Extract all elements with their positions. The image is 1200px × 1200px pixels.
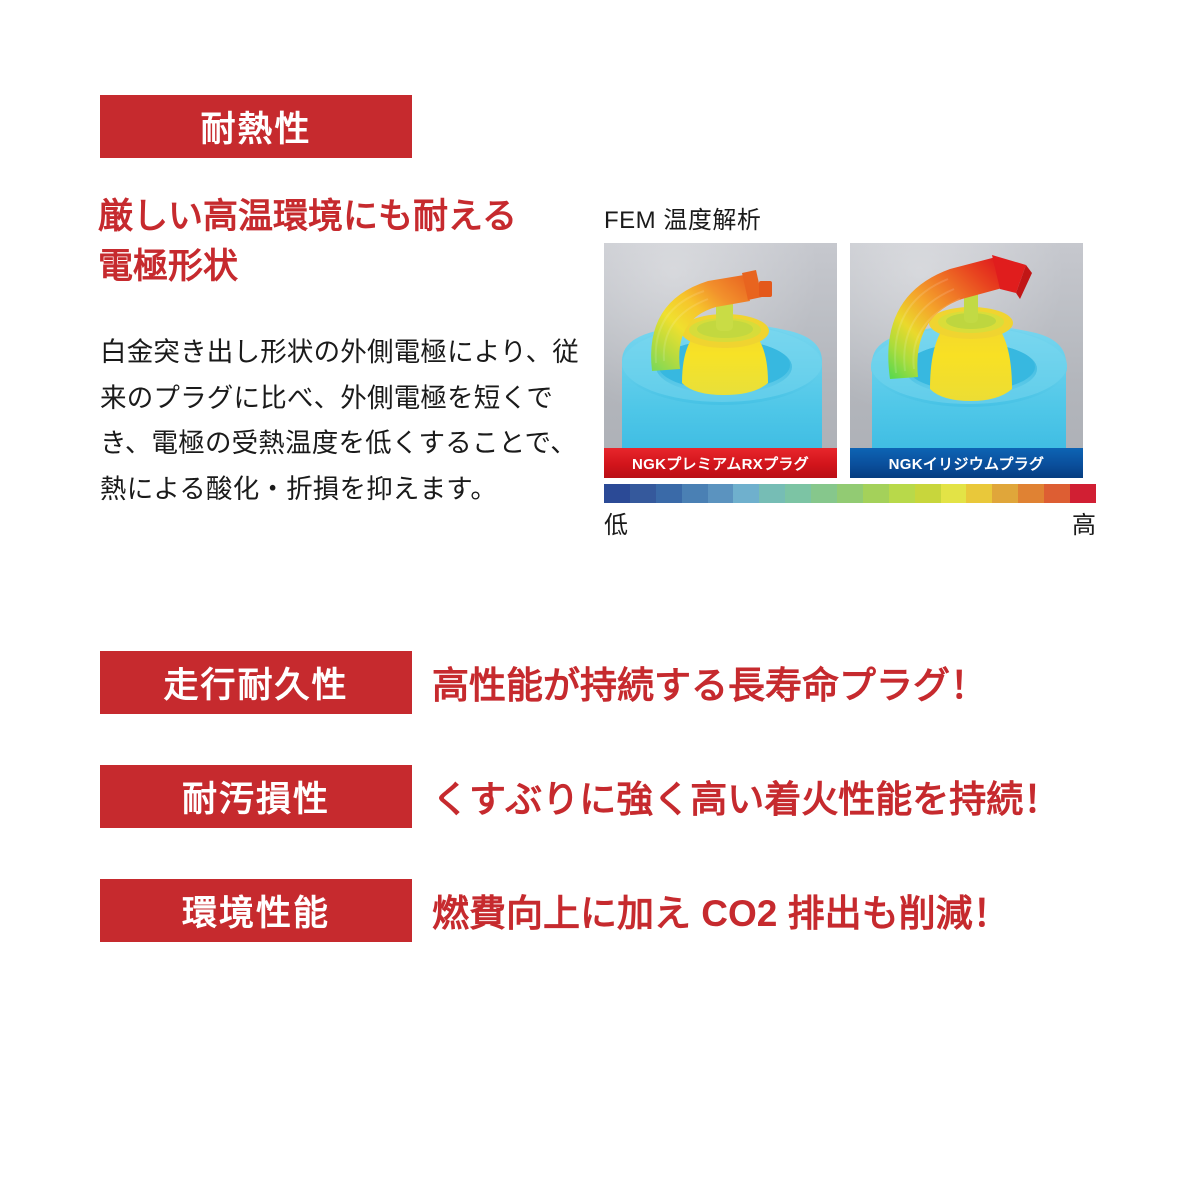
legend-color-band-2 [656,484,682,503]
legend-color-band-11 [889,484,915,503]
legend-color-band-7 [785,484,811,503]
spark-plug-thermal-render-rx [604,243,837,478]
badge-fouling-resistance: 耐汚損性 [100,765,412,828]
fem-panel-group: NGKプレミアムRXプラグ [604,243,1096,478]
fem-caption-iridium: NGKイリジウムプラグ [850,448,1083,478]
heat-body-paragraph: 白金突き出し形状の外側電極により、従来のプラグに比べ、外側電極を短くでき、電極の… [100,330,580,512]
fem-figure-title: FEM 温度解析 [604,200,1096,235]
legend-color-band-13 [941,484,967,503]
legend-color-band-14 [966,484,992,503]
legend-color-band-15 [992,484,1018,503]
legend-color-band-1 [630,484,656,503]
feature-text-environmental: 燃費向上に加え CO2 排出も削減！ [432,878,1010,941]
heat-lead-line-1: 厳しい高温環境にも耐える [98,192,578,242]
legend-label-low: 低 [604,505,628,540]
legend-color-band-10 [863,484,889,503]
legend-color-band-0 [604,484,630,503]
feature-text-fouling-resistance: くすぶりに強く高い着火性能を持続！ [432,764,1060,827]
feature-row-driving-durability: 走行耐久性 高性能が持続する長寿命プラグ！ [100,651,1100,765]
legend-color-band-5 [733,484,759,503]
legend-labels: 低 高 [604,505,1096,540]
heat-lead-line-2: 電極形状 [98,242,578,292]
fem-panel-premium-rx: NGKプレミアムRXプラグ [604,243,837,478]
temperature-scale-legend: 低 高 [604,484,1096,540]
badge-heat-resistance: 耐熱性 [100,95,412,158]
legend-color-band-16 [1018,484,1044,503]
fem-caption-premium-rx: NGKプレミアムRXプラグ [604,448,837,478]
badge-driving-durability: 走行耐久性 [100,651,412,714]
legend-color-band-9 [837,484,863,503]
feature-row-environmental: 環境性能 燃費向上に加え CO2 排出も削減！ [100,879,1100,993]
legend-color-band-4 [708,484,734,503]
legend-color-bar [604,484,1096,503]
legend-color-band-18 [1070,484,1096,503]
heat-lead-headline: 厳しい高温環境にも耐える 電極形状 [98,192,578,291]
legend-color-band-6 [759,484,785,503]
product-feature-page: 耐熱性 厳しい高温環境にも耐える 電極形状 白金突き出し形状の外側電極により、従… [0,0,1200,1200]
legend-label-high: 高 [1072,505,1096,540]
legend-color-band-17 [1044,484,1070,503]
feature-row-fouling-resistance: 耐汚損性 くすぶりに強く高い着火性能を持続！ [100,765,1100,879]
badge-environmental-performance: 環境性能 [100,879,412,942]
legend-color-band-8 [811,484,837,503]
legend-color-band-12 [915,484,941,503]
spark-plug-thermal-render-iridium [850,243,1083,478]
fem-panel-iridium: NGKイリジウムプラグ [850,243,1083,478]
feature-text-driving-durability: 高性能が持続する長寿命プラグ！ [432,650,987,713]
legend-color-band-3 [682,484,708,503]
fem-figure: FEM 温度解析 [604,200,1096,540]
feature-row-list: 走行耐久性 高性能が持続する長寿命プラグ！ 耐汚損性 くすぶりに強く高い着火性能… [100,651,1100,993]
